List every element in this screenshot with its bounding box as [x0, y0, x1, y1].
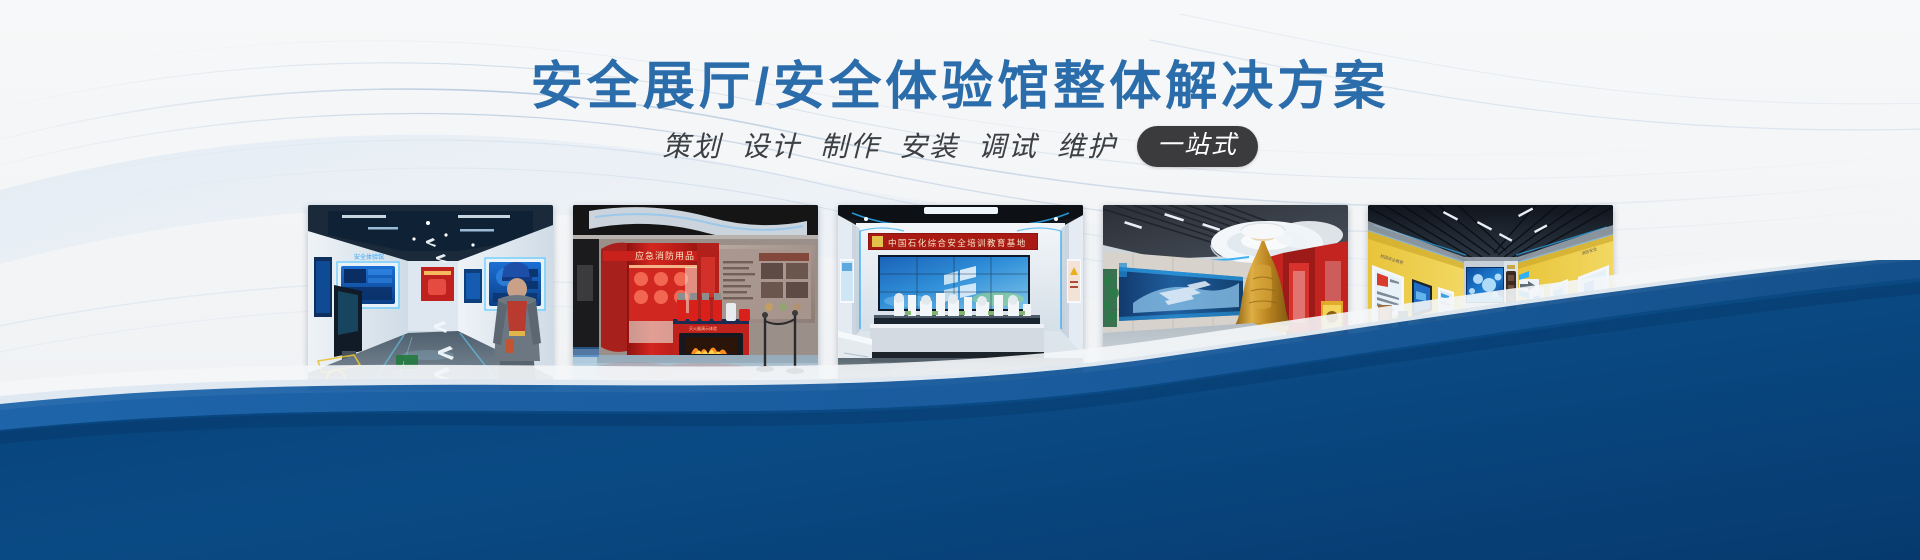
svg-text:中国石化综合安全培训教育基地: 中国石化综合安全培训教育基地 — [888, 238, 1027, 248]
service-step-maintenance: 维护 — [1057, 133, 1117, 161]
petrochemical-safety-exhibition-hall-photo[interactable]: 中国石化综合安全培训教育基地 — [838, 205, 1083, 390]
solution-card-list: 安全体验馆 — [0, 205, 1920, 421]
page-title: 安全展厅/安全体验馆整体解决方案 — [531, 57, 1389, 118]
svg-text:灭火器演示体验: 灭火器演示体验 — [689, 325, 717, 331]
campus-safety-exhibition-hall-photo[interactable]: 校园安全教育 — [1368, 205, 1613, 390]
card-caption: 电力安全 — [659, 404, 731, 421]
electric-power-safety-exhibition-hall-photo[interactable]: 应急消防用品 — [573, 205, 818, 390]
solution-card-electric-power[interactable]: 应急消防用品 — [573, 205, 818, 421]
safety-exhibition-banner: 安全展厅/安全体验馆整体解决方案 策划 设计 制作 安装 调试 维护 一站式 — [0, 0, 1920, 560]
service-process-row: 策划 设计 制作 安装 调试 维护 一站式 — [0, 126, 1920, 167]
service-step-production: 制作 — [820, 133, 880, 161]
service-process-words: 策划 设计 制作 安装 调试 维护 — [662, 133, 1117, 161]
construction-safety-exhibition-hall-photo[interactable]: 安全体验馆 — [308, 205, 553, 390]
mine-safety-exhibition-hall-photo[interactable] — [1103, 205, 1348, 390]
one-stop-badge: 一站式 — [1137, 126, 1258, 167]
solution-card-campus[interactable]: 校园安全教育 — [1368, 205, 1613, 421]
svg-text:↓: ↓ — [401, 358, 406, 368]
solution-card-petrochemical[interactable]: 中国石化综合安全培训教育基地 — [838, 205, 1083, 421]
card-caption: 建筑安全 — [394, 404, 466, 421]
solution-card-mine[interactable]: 矿山安全 — [1103, 205, 1348, 421]
service-step-planning: 策划 — [662, 133, 722, 161]
service-step-design: 设计 — [741, 133, 801, 161]
service-step-installation: 安装 — [899, 133, 959, 161]
solution-card-construction[interactable]: 安全体验馆 — [308, 205, 553, 421]
svg-text:安全体验馆: 安全体验馆 — [354, 253, 384, 261]
card-caption: 矿山安全 — [1189, 404, 1261, 421]
card-caption: 校园安全 — [1454, 404, 1526, 421]
card-caption: 石化安全 — [924, 404, 996, 421]
service-step-debugging: 调试 — [978, 133, 1038, 161]
svg-text:应急消防用品: 应急消防用品 — [635, 250, 695, 261]
